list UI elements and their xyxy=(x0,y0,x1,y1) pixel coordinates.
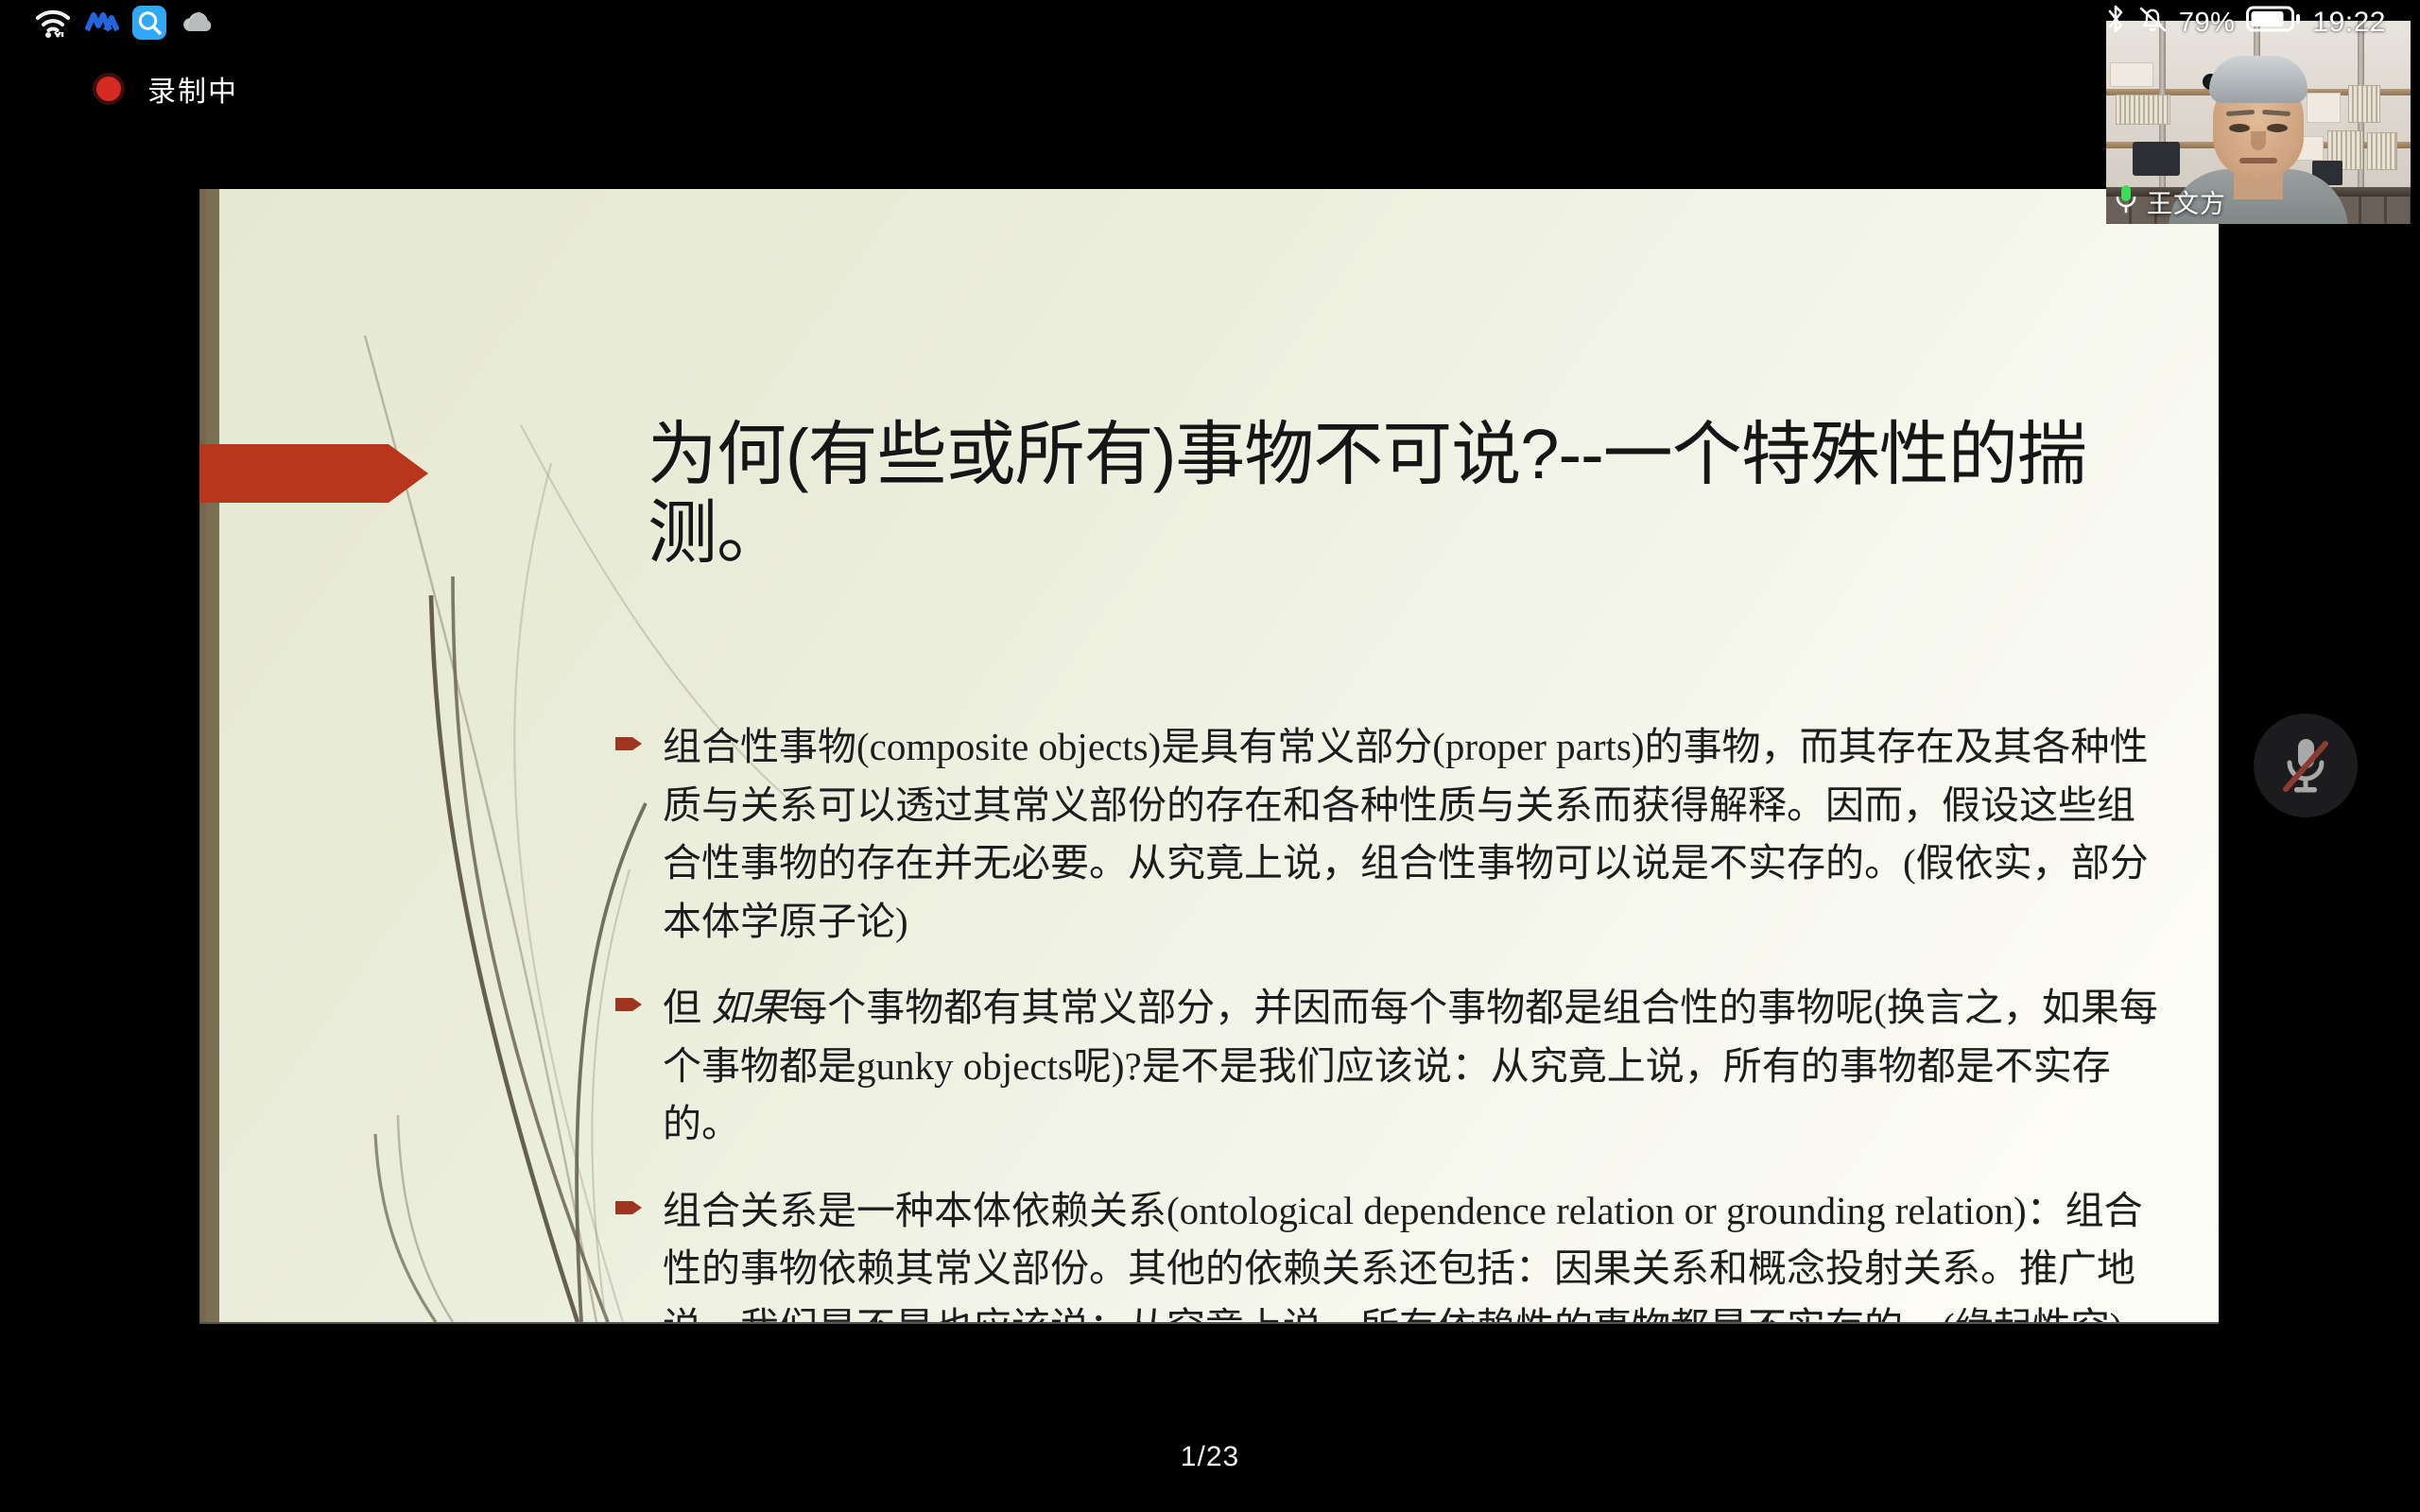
bullet-text: 组合关系是一种本体依赖关系(ontological dependence rel… xyxy=(663,1182,2166,1323)
bullet-text-part: 每个事物都有其常义部分，并因而每个事物都是组合性的事物呢(换言之，如果每个事物都… xyxy=(663,986,2158,1145)
person-eye xyxy=(2229,124,2250,132)
shelf-item xyxy=(2348,85,2380,123)
person-nose xyxy=(2251,131,2266,150)
monitor xyxy=(2133,142,2180,176)
wifi-icon xyxy=(34,8,72,43)
bullet-emphasis: 如果 xyxy=(711,986,788,1029)
self-video-thumbnail[interactable]: 王文方 xyxy=(2106,21,2411,224)
list-item: 组合性事物(composite objects)是具有常义部分(proper p… xyxy=(615,718,2166,951)
shelf-item xyxy=(2367,132,2397,170)
arrow-bullet-icon xyxy=(615,995,642,1014)
participant-name-row: 王文方 xyxy=(2114,183,2226,220)
mute-microphone-button[interactable] xyxy=(2254,713,2358,817)
recording-indicator[interactable]: 录制中 xyxy=(93,68,238,110)
bullet-text-part: 组合关系是一种本体依赖关系(ontological dependence rel… xyxy=(663,1189,2143,1323)
arrow-bullet-icon xyxy=(615,734,642,753)
status-bar-right: 79% 19:22 xyxy=(2105,2,2386,43)
clock-label: 19:22 xyxy=(2312,7,2386,39)
person-mouth xyxy=(2239,158,2277,163)
status-bar: 79% 19:22 xyxy=(0,0,2420,49)
app-logo-icon xyxy=(85,9,119,41)
person-eye xyxy=(2267,124,2288,132)
bullet-text-part: 组合性事物(composite objects)是具有常义部分(proper p… xyxy=(663,725,2149,943)
list-item: 组合关系是一种本体依赖关系(ontological dependence rel… xyxy=(615,1182,2166,1323)
list-item: 但 如果每个事物都有其常义部分，并因而每个事物都是组合性的事物呢(换言之，如果每… xyxy=(615,979,2166,1154)
battery-percent-label: 79% xyxy=(2179,8,2236,39)
recording-label: 录制中 xyxy=(147,68,238,110)
person-hair xyxy=(2209,56,2308,103)
person-brow xyxy=(2262,110,2290,116)
arrow-bullet-icon xyxy=(615,1198,642,1217)
record-dot-icon xyxy=(93,73,125,105)
shelf-item xyxy=(2116,94,2170,125)
cloud-icon xyxy=(180,9,217,41)
bullet-text: 但 如果每个事物都有其常义部分，并因而每个事物都是组合性的事物呢(换言之，如果每… xyxy=(663,979,2166,1154)
bullet-text-part: 但 xyxy=(663,986,711,1029)
slide-title: 为何(有些或所有)事物不可说?--一个特殊性的揣测。 xyxy=(648,416,2160,573)
person-brow xyxy=(2226,110,2255,116)
bluetooth-icon xyxy=(2105,3,2126,43)
bullet-text: 组合性事物(composite objects)是具有常义部分(proper p… xyxy=(663,718,2166,951)
microphone-muted-icon xyxy=(2276,731,2335,799)
participant-name-label: 王文方 xyxy=(2147,183,2226,220)
shelf-item xyxy=(2307,93,2341,123)
search-icon[interactable] xyxy=(132,6,166,44)
status-bar-left-icons xyxy=(34,4,217,45)
page-indicator: 1/23 xyxy=(0,1441,2420,1473)
presentation-slide[interactable]: 为何(有些或所有)事物不可说?--一个特殊性的揣测。 组合性事物(composi… xyxy=(199,189,2219,1322)
slide-bullet-list: 组合性事物(composite objects)是具有常义部分(proper p… xyxy=(615,718,2166,1322)
bell-muted-icon xyxy=(2137,4,2168,42)
shelf-item xyxy=(2110,62,2153,87)
battery-icon xyxy=(2246,4,2301,42)
title-arrow-accent xyxy=(199,444,428,503)
microphone-on-icon xyxy=(2114,183,2138,220)
